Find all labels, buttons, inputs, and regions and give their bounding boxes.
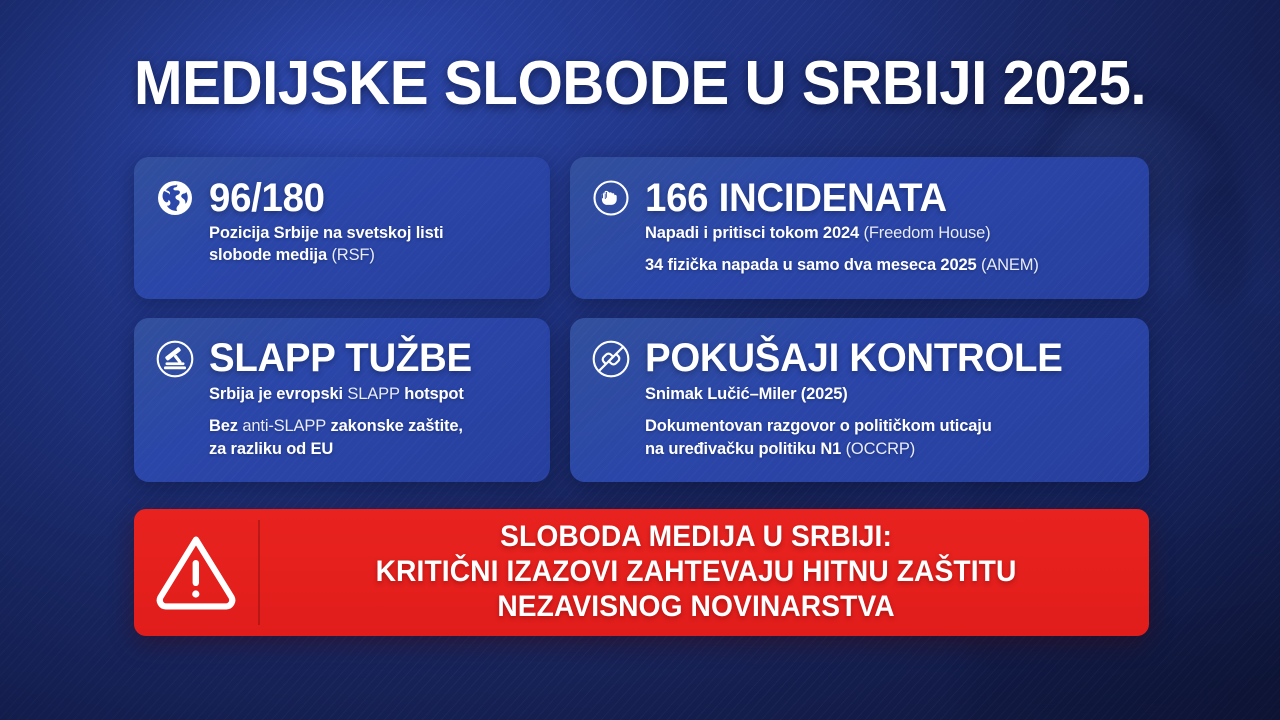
description-line: za razliku od EU: [209, 439, 528, 460]
stat-card-press-freedom-rank: 96/180 Pozicija Srbije na svetskoj listi…: [134, 157, 550, 299]
description-line: Pozicija Srbije na svetskoj listi: [209, 223, 528, 244]
infographic-slide: MEDIJSKE SLOBODE U SRBIJI 2025. 96/180: [0, 0, 1280, 720]
banner-divider: [258, 520, 260, 625]
card-headline: SLAPP TUŽBE: [209, 338, 472, 379]
description-line: na uređivačku politiku N1 (OCCRP): [645, 439, 1127, 460]
warning-triangle-icon: [134, 534, 258, 612]
card-description: Napadi i pritisci tokom 2024 (Freedom Ho…: [590, 223, 1127, 277]
card-header: SLAPP TUŽBE: [154, 338, 528, 380]
card-header: POKUŠAJI KONTROLE: [590, 338, 1127, 380]
gavel-icon: [154, 338, 196, 380]
alert-line: SLOBODA MEDIJA U SRBIJI:: [294, 520, 1098, 555]
card-description: Snimak Lučić–Miler (2025) Dokumentovan r…: [590, 384, 1127, 460]
description-line: 34 fizička napada u samo dva meseca 2025…: [645, 255, 1127, 276]
description-line: Napadi i pritisci tokom 2024 (Freedom Ho…: [645, 223, 1127, 244]
description-line: Bez anti-SLAPP zakonske zaštite,: [209, 416, 528, 437]
card-headline: 166 INCIDENATA: [645, 178, 947, 219]
fist-icon: [590, 177, 632, 219]
alert-banner: SLOBODA MEDIJA U SRBIJI: KRITIČNI IZAZOV…: [134, 509, 1149, 636]
alert-line: KRITIČNI IZAZOVI ZAHTEVAJU HITNU ZAŠTITU: [294, 555, 1098, 590]
stat-card-grid: 96/180 Pozicija Srbije na svetskoj listi…: [134, 157, 1149, 482]
card-headline: 96/180: [209, 178, 325, 219]
card-header: 166 INCIDENATA: [590, 177, 1127, 219]
card-description: Srbija je evropski SLAPP hotspot Bez ant…: [154, 384, 528, 460]
description-line: Srbija je evropski SLAPP hotspot: [209, 384, 528, 405]
globe-icon: [154, 177, 196, 219]
stat-card-control-attempts: POKUŠAJI KONTROLE Snimak Lučić–Miler (20…: [570, 318, 1149, 482]
broken-chain-icon: [590, 338, 632, 380]
description-line: slobode medija (RSF): [209, 245, 528, 266]
stat-card-slapp-lawsuits: SLAPP TUŽBE Srbija je evropski SLAPP hot…: [134, 318, 550, 482]
card-header: 96/180: [154, 177, 528, 219]
description-line: Dokumentovan razgovor o političkom utica…: [645, 416, 1127, 437]
card-headline: POKUŠAJI KONTROLE: [645, 338, 1063, 379]
card-description: Pozicija Srbije na svetskoj listi slobod…: [154, 223, 528, 267]
description-line: Snimak Lučić–Miler (2025): [645, 384, 1127, 405]
stat-card-incidents: 166 INCIDENATA Napadi i pritisci tokom 2…: [570, 157, 1149, 299]
page-title: MEDIJSKE SLOBODE U SRBIJI 2025.: [134, 53, 1146, 115]
alert-line: NEZAVISNOG NOVINARSTVA: [294, 590, 1098, 625]
alert-message: SLOBODA MEDIJA U SRBIJI: KRITIČNI IZAZOV…: [287, 520, 1123, 624]
